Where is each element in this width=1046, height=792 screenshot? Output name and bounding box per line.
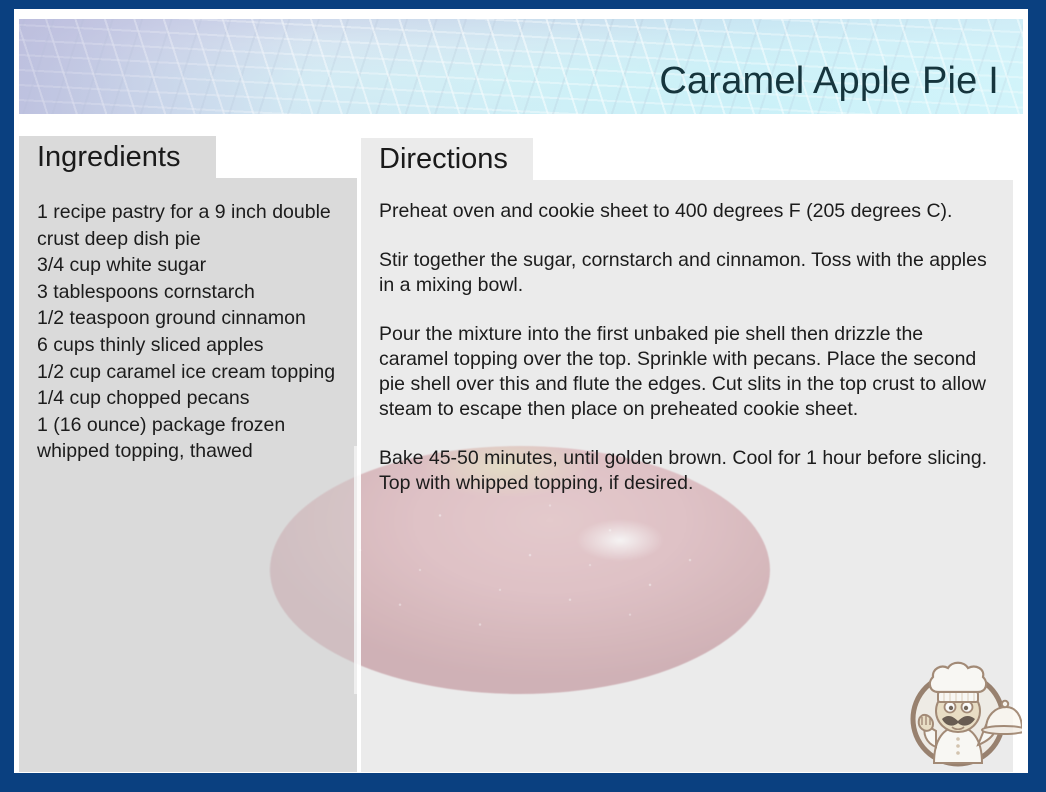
direction-step: Pour the mixture into the first unbaked … [379, 322, 991, 422]
ingredients-panel: 1 recipe pastry for a 9 inch double crus… [19, 178, 357, 772]
list-item: 1/4 cup chopped pecans [37, 385, 345, 412]
chef-logo [900, 659, 1022, 772]
recipe-title: Caramel Apple Pie I [659, 62, 999, 100]
list-item: 1 (16 ounce) package frozen whipped topp… [37, 412, 345, 465]
tab-directions[interactable]: Directions [361, 138, 533, 180]
list-item: 1/2 cup caramel ice cream topping [37, 359, 345, 386]
list-item: 3 tablespoons cornstarch [37, 279, 345, 306]
direction-step: Bake 45-50 minutes, until golden brown. … [379, 446, 991, 496]
tab-directions-label: Directions [379, 145, 508, 174]
recipe-slide: Caramel Apple Pie I Ingredients Directio… [0, 0, 1046, 792]
title-banner: Caramel Apple Pie I [19, 19, 1023, 114]
ingredients-list: 1 recipe pastry for a 9 inch double crus… [37, 199, 345, 465]
list-item: 1 recipe pastry for a 9 inch double crus… [37, 199, 345, 252]
tab-ingredients[interactable]: Ingredients [19, 136, 216, 178]
list-item: 3/4 cup white sugar [37, 252, 345, 279]
tab-ingredients-label: Ingredients [37, 143, 181, 172]
slide-content-area: Caramel Apple Pie I Ingredients Directio… [14, 9, 1028, 773]
list-item: 6 cups thinly sliced apples [37, 332, 345, 359]
direction-step: Stir together the sugar, cornstarch and … [379, 248, 991, 298]
list-item: 1/2 teaspoon ground cinnamon [37, 305, 345, 332]
direction-step: Preheat oven and cookie sheet to 400 deg… [379, 199, 991, 224]
